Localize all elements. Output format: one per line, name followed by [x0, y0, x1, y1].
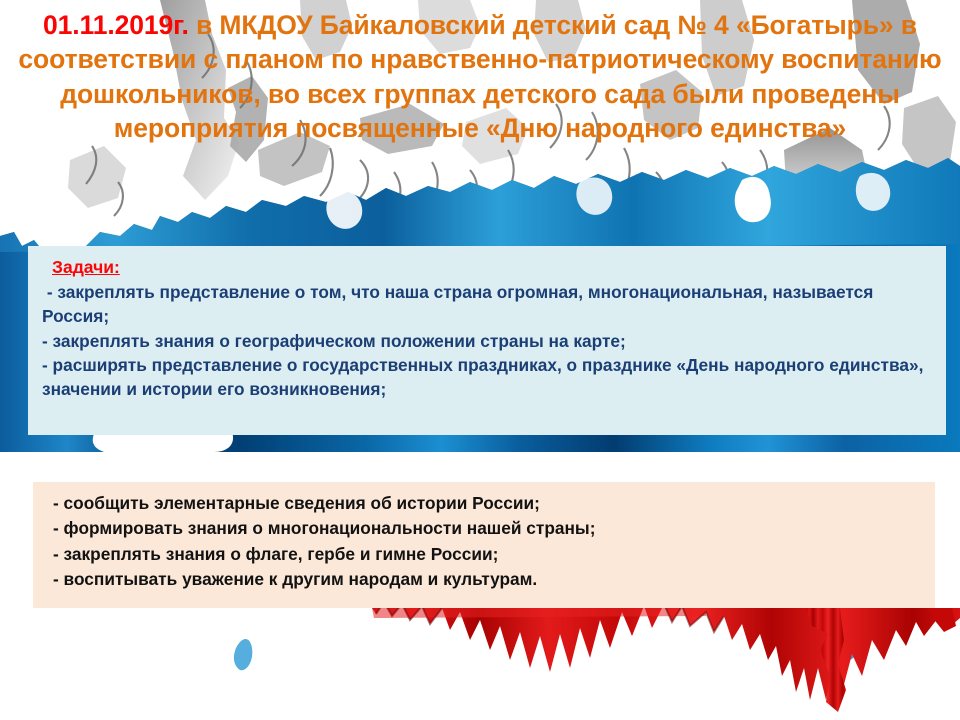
tasks-heading: Задачи:	[52, 255, 120, 279]
tasks-textbox: Задачи: - закреплять представление о том…	[28, 246, 946, 435]
goals-line-2: - формировать знания о многонациональнос…	[53, 516, 921, 541]
goals-line-4: - воспитывать уважение к другим народам …	[53, 567, 921, 592]
goals-line-1: - сообщить элементарные сведения об исто…	[53, 491, 921, 516]
goals-line-3: - закреплять знания о флаге, гербе и гим…	[53, 542, 921, 567]
tasks-line-3: - расширять представление о государствен…	[42, 353, 932, 401]
tasks-line-1: - закреплять представление о том, что на…	[42, 280, 932, 328]
flag-red-drip-column	[806, 608, 956, 712]
flag-red-stripe	[372, 602, 960, 700]
slide-title: 01.11.2019г. в МКДОУ Байкаловский детски…	[8, 8, 952, 146]
title-date: 01.11.2019г.	[43, 10, 189, 40]
tasks-line-2: - закреплять знания о географическом пол…	[42, 329, 932, 353]
slide-canvas: 01.11.2019г. в МКДОУ Байкаловский детски…	[0, 0, 960, 720]
goals-textbox: - сообщить элементарные сведения об исто…	[33, 482, 935, 608]
